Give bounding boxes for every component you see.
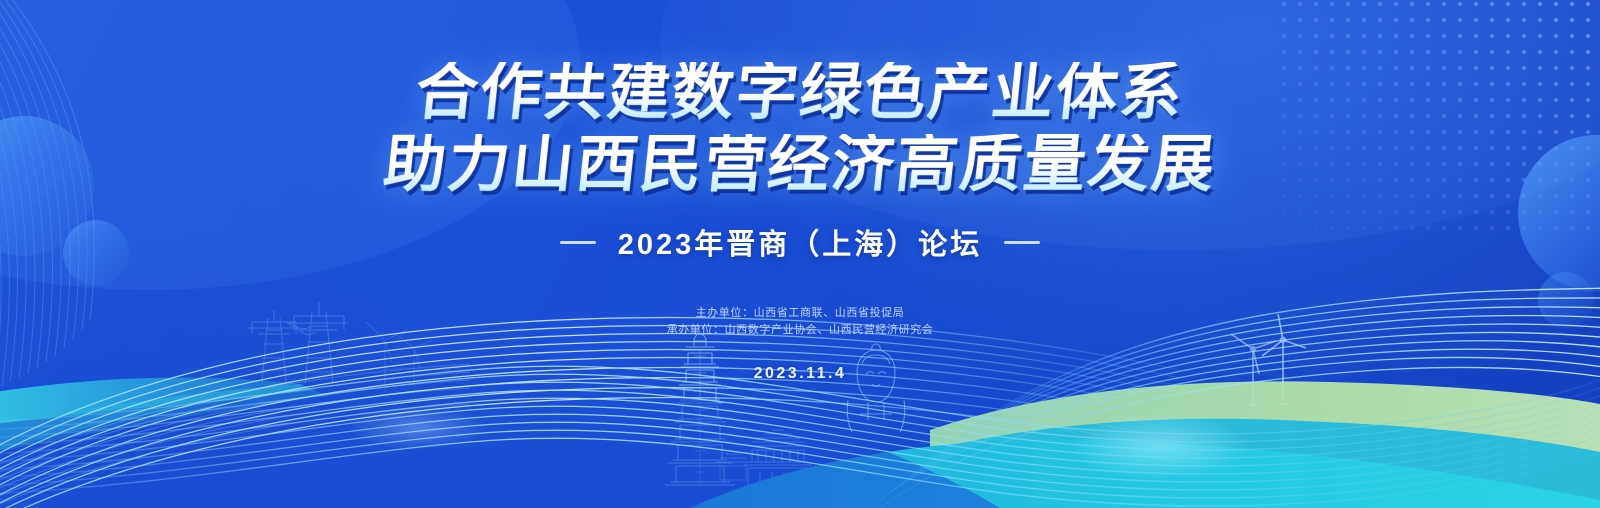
- subtitle: 2023年晋商（上海）论坛: [560, 221, 1041, 263]
- left-arc-line-family: [0, 318, 1180, 508]
- title-line-2: 助力山西民营经济高质量发展: [381, 134, 1219, 194]
- host-line: 主办单位：山西省工商联、山西省投促局: [667, 305, 934, 322]
- dash-right-icon: [1004, 241, 1040, 244]
- dash-left-icon: [560, 241, 596, 244]
- title-line-1: 合作共建数字绿色产业体系: [381, 62, 1219, 122]
- event-date: 2023.11.4: [754, 365, 847, 383]
- organizer-line: 承办单位：山西数字产业协会、山西民营经济研究会: [667, 322, 934, 339]
- main-title: 合作共建数字绿色产业体系 助力山西民营经济高质量发展: [384, 62, 1216, 193]
- organizer-block: 主办单位：山西省工商联、山西省投促局 承办单位：山西数字产业协会、山西民营经济研…: [667, 305, 934, 339]
- subtitle-text: 2023年晋商（上海）论坛: [618, 221, 983, 263]
- center-ribbon-line-family: [0, 366, 1600, 506]
- conference-banner: 合作共建数字绿色产业体系 助力山西民营经济高质量发展 2023年晋商（上海）论坛…: [0, 0, 1600, 508]
